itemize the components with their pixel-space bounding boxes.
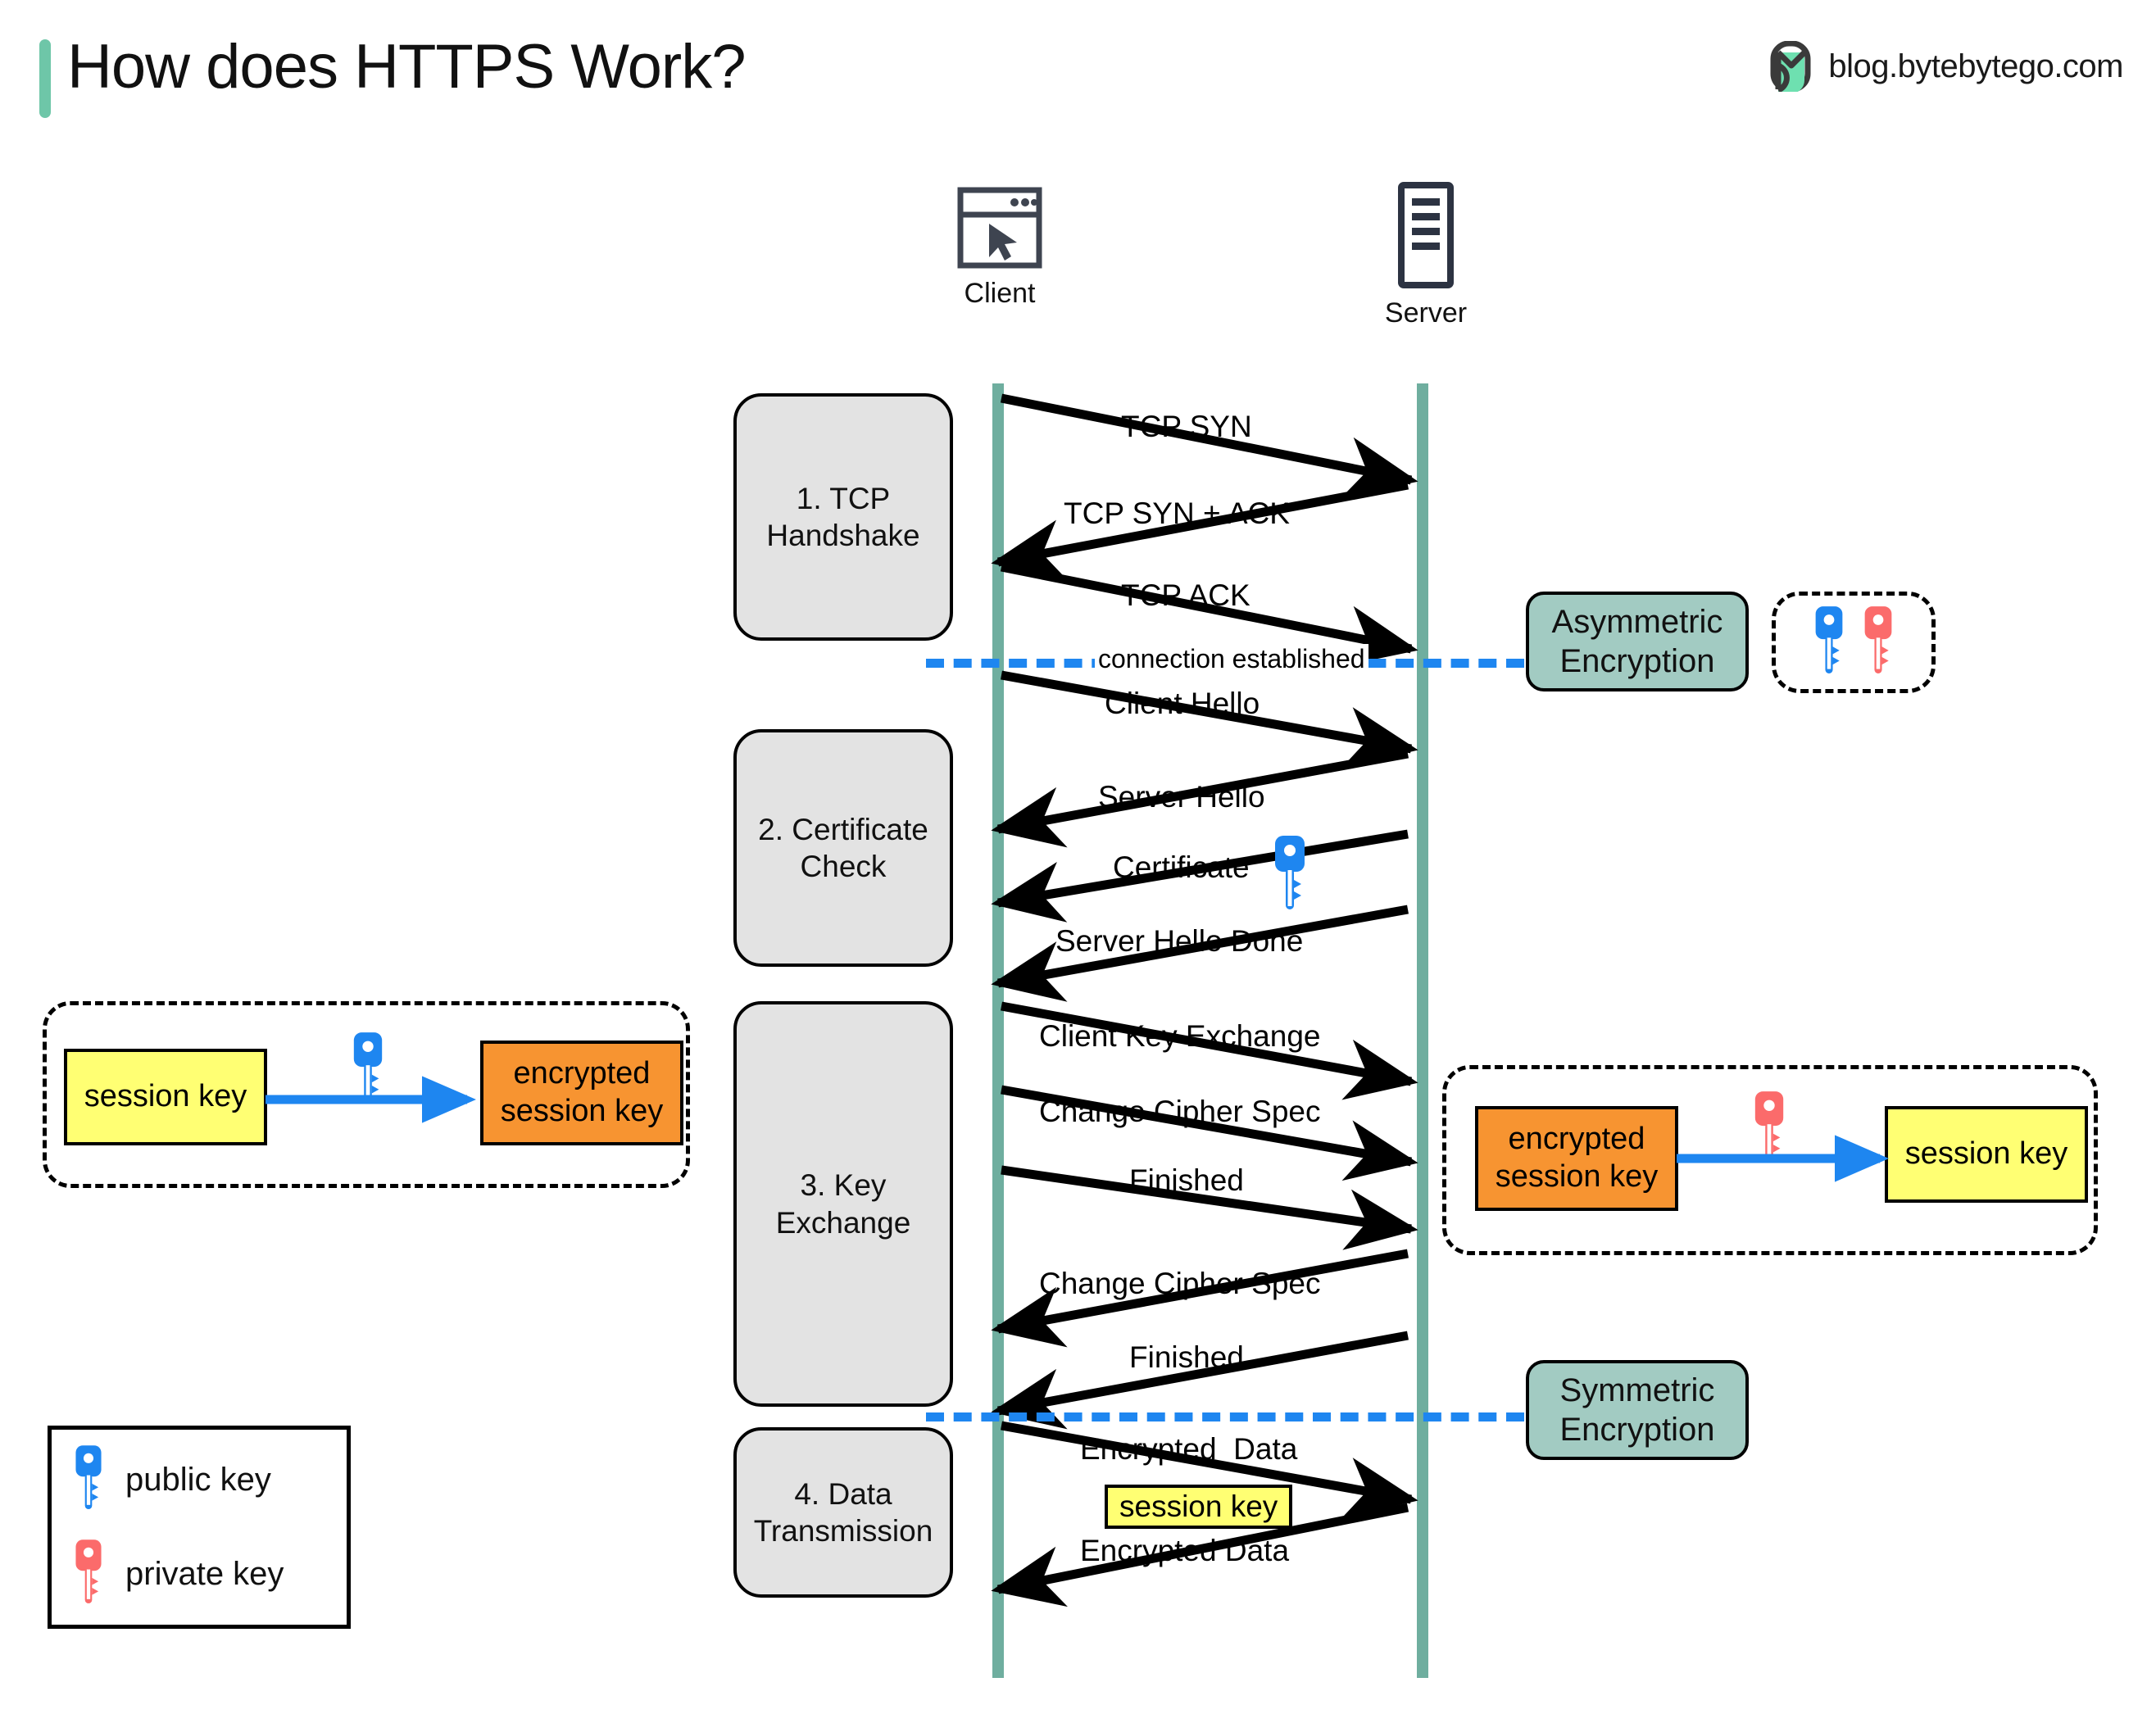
- phase-label: 2. Certificate Check: [758, 811, 928, 885]
- keypair-panel: [1772, 592, 1936, 693]
- brand: blog.bytebytego.com: [1766, 41, 2123, 92]
- asymmetric-encryption-label: Asymmetric Encryption: [1552, 602, 1723, 681]
- actor-server-label: Server: [1385, 297, 1467, 329]
- encrypt-source-label: session key: [84, 1078, 247, 1116]
- legend-label-private-key: private key: [125, 1556, 284, 1593]
- encrypt-source-chip: session key: [64, 1049, 267, 1145]
- title-accent-bar: [39, 39, 51, 118]
- message-label-encrypted-data-up: Encrypted Data: [1080, 1432, 1297, 1467]
- bytebytego-logo-icon: [1766, 41, 1817, 92]
- server-tower-icon: [1397, 182, 1455, 292]
- lifeline-client: [992, 383, 1004, 1678]
- browser-window-icon: [957, 187, 1042, 273]
- symmetric-encryption-label: Symmetric Encryption: [1560, 1371, 1715, 1449]
- actor-server: Server: [1356, 182, 1496, 329]
- separator-symmetric: [926, 1412, 1524, 1421]
- phase-box-certificate-check[interactable]: 2. Certificate Check: [733, 729, 953, 967]
- encrypt-target-chip: encrypted session key: [480, 1041, 683, 1145]
- symmetric-encryption-box[interactable]: Symmetric Encryption: [1526, 1360, 1749, 1460]
- encrypt-panel-arrow: [264, 1075, 485, 1124]
- message-label-client-hello: Client Hello: [1105, 687, 1260, 721]
- message-label-tcp-ack: TCP ACK: [1121, 578, 1250, 613]
- actor-client: Client: [930, 187, 1069, 310]
- message-label-encrypted-data-down: Encrypted Data: [1080, 1534, 1289, 1568]
- phase-box-data-transmission[interactable]: 4. Data Transmission: [733, 1427, 953, 1598]
- encrypt-target-label: encrypted session key: [501, 1055, 664, 1130]
- session-key-chip: session key: [1105, 1485, 1292, 1529]
- legend-item-private-key: private key: [73, 1538, 325, 1611]
- message-label-server-hello: Server Hello: [1098, 780, 1265, 814]
- message-label-tcp-syn: TCP SYN: [1121, 410, 1252, 444]
- message-label-change-cipher-spec-server: Change Cipher Spec: [1039, 1267, 1321, 1301]
- actor-client-label: Client: [965, 278, 1036, 310]
- private-key-icon: [73, 1538, 104, 1611]
- phase-box-key-exchange[interactable]: 3. Key Exchange: [733, 1001, 953, 1407]
- page-title: How does HTTPS Work?: [67, 31, 746, 102]
- decrypt-source-chip: encrypted session key: [1475, 1106, 1678, 1211]
- public-key-icon: [1813, 605, 1845, 681]
- decrypt-target-chip: session key: [1885, 1106, 2088, 1203]
- diagram-canvas: How does HTTPS Work? blog.bytebytego.com: [0, 0, 2156, 1723]
- separator-connection-established-label: connection established: [1095, 644, 1368, 674]
- legend: public key private key: [48, 1426, 351, 1629]
- message-label-finished-client: Finished: [1129, 1163, 1244, 1198]
- message-label-server-hello-done: Server Hello Done: [1055, 924, 1303, 959]
- message-label-finished-server: Finished: [1129, 1340, 1244, 1375]
- decrypt-panel-arrow: [1675, 1134, 1896, 1183]
- message-label-certificate: Certificate: [1113, 850, 1250, 885]
- brand-label: blog.bytebytego.com: [1828, 48, 2123, 85]
- legend-item-public-key: public key: [73, 1444, 325, 1517]
- lifeline-server: [1417, 383, 1428, 1678]
- decrypt-target-label: session key: [1905, 1136, 2068, 1173]
- legend-label-public-key: public key: [125, 1462, 271, 1499]
- message-label-tcp-syn-ack: TCP SYN + ACK: [1064, 496, 1290, 531]
- phase-label: 1. TCP Handshake: [766, 480, 919, 554]
- phase-label: 3. Key Exchange: [776, 1167, 911, 1240]
- public-key-icon: [73, 1444, 104, 1517]
- message-label-change-cipher-spec-client: Change Cipher Spec: [1039, 1095, 1321, 1129]
- private-key-icon: [1862, 605, 1895, 681]
- decrypt-source-label: encrypted session key: [1496, 1121, 1659, 1195]
- phase-box-tcp-handshake[interactable]: 1. TCP Handshake: [733, 393, 953, 641]
- phase-label: 4. Data Transmission: [754, 1476, 933, 1549]
- asymmetric-encryption-box[interactable]: Asymmetric Encryption: [1526, 592, 1749, 691]
- message-label-client-key-exchange: Client Key Exchange: [1039, 1019, 1320, 1054]
- certificate-public-key-icon: [1272, 834, 1308, 917]
- session-key-chip-label: session key: [1119, 1489, 1278, 1523]
